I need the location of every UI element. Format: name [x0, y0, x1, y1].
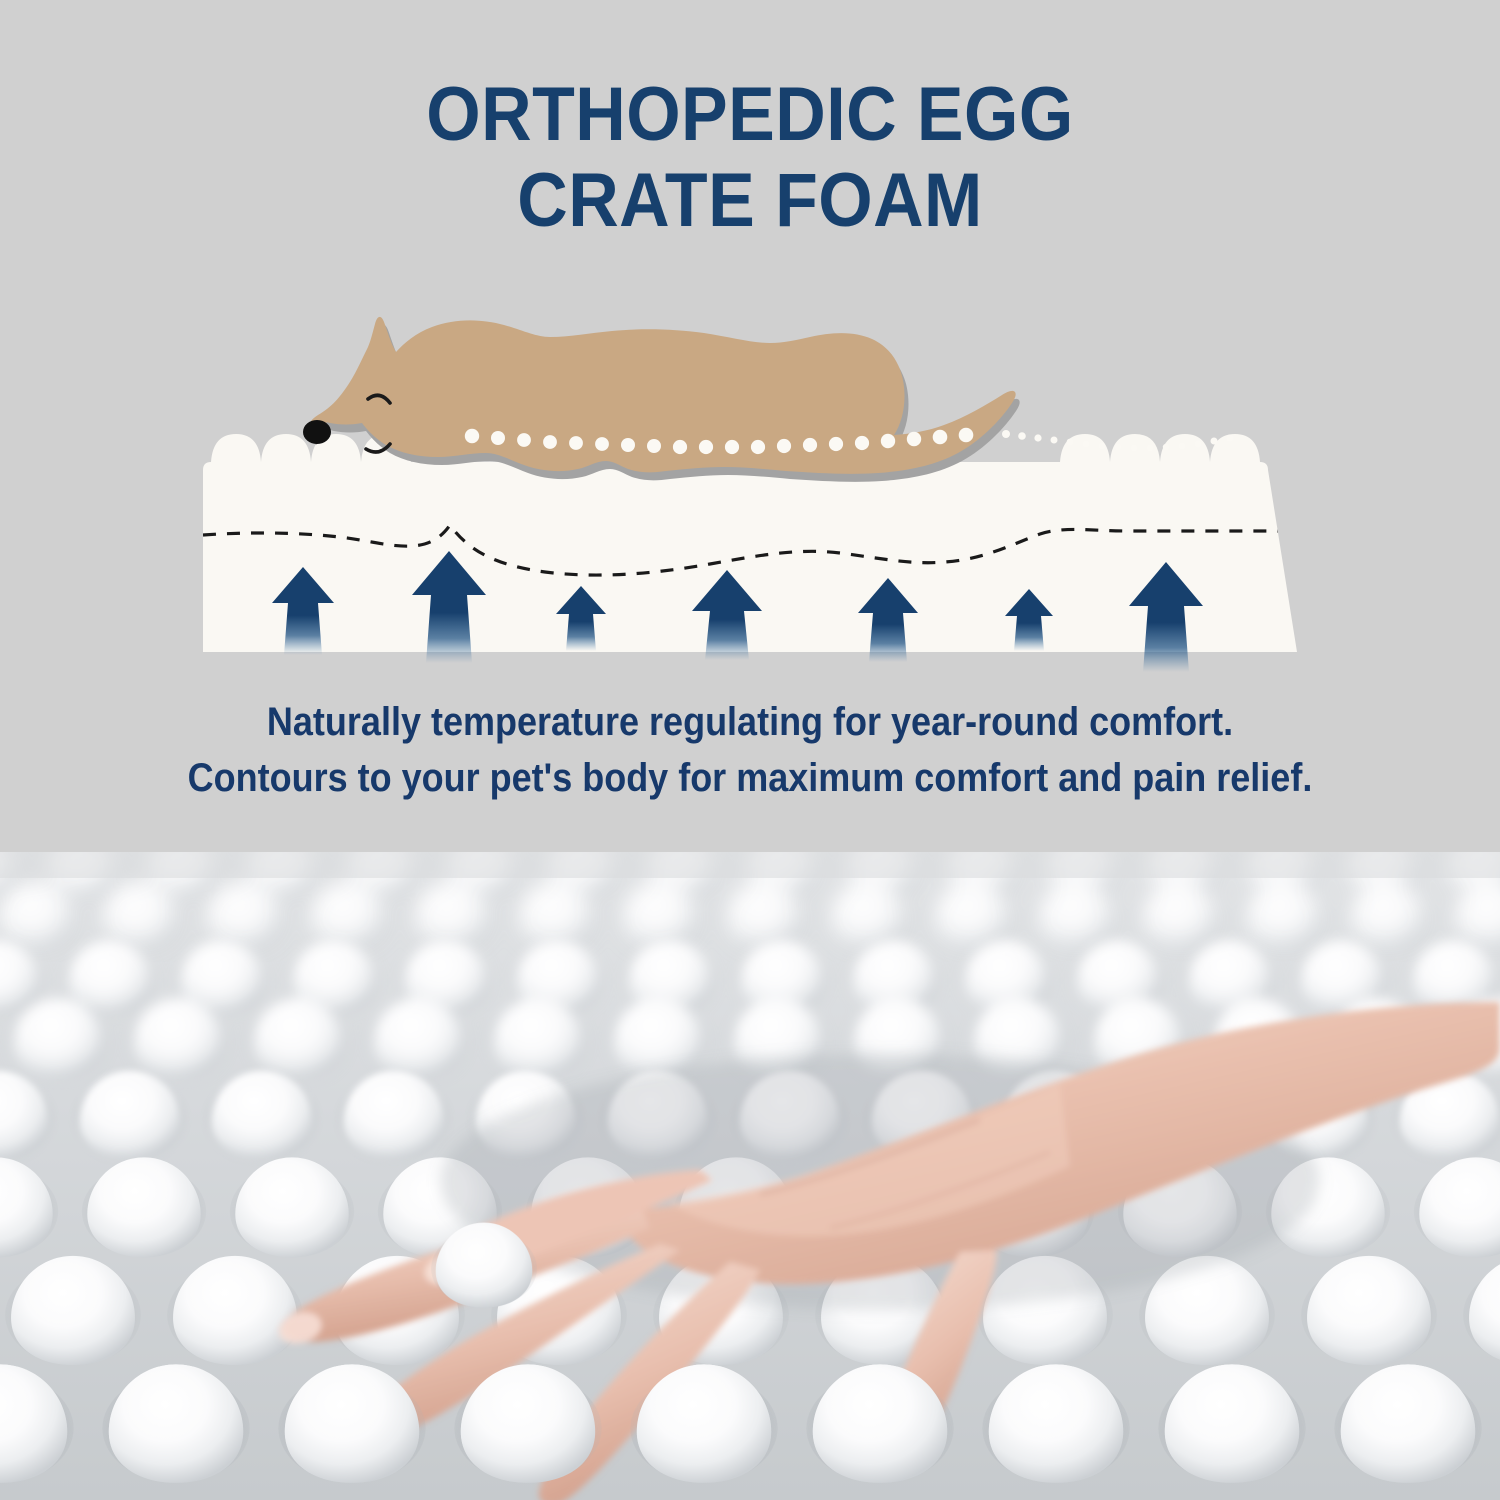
foam-photo-panel — [0, 852, 1500, 1500]
infographic-page: ORTHOPEDIC EGG CRATE FOAM — [0, 0, 1500, 1500]
egg-crate-foam-photo — [0, 852, 1500, 1500]
caption-line-1: Naturally temperature regulating for yea… — [75, 694, 1425, 750]
caption-block: Naturally temperature regulating for yea… — [75, 694, 1425, 806]
diagram-panel: ORTHOPEDIC EGG CRATE FOAM — [0, 0, 1500, 852]
dog-nose-icon — [303, 420, 331, 444]
caption-line-2: Contours to your pet's body for maximum … — [75, 750, 1425, 806]
